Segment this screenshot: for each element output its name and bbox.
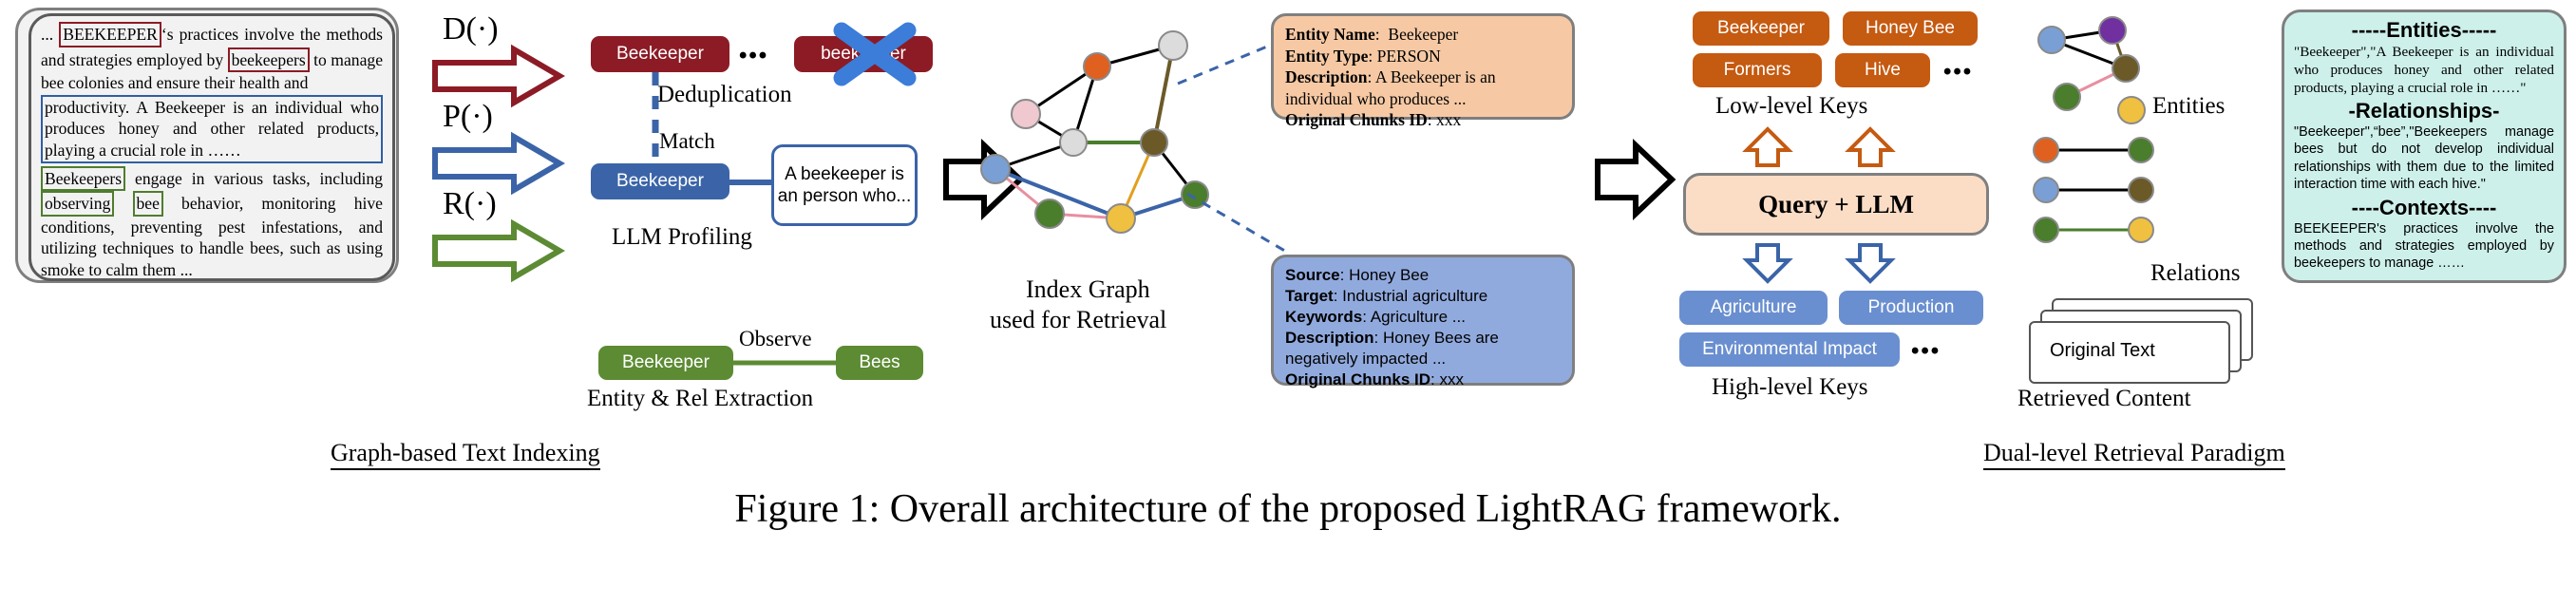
figure-root: ... BEEKEEPER‘s practices involve the me…	[0, 0, 2576, 606]
entity-info-card: Entity Name: Beekeeper Entity Type: PERS…	[1271, 13, 1575, 120]
retrieved-content-label: Retrieved Content	[2017, 386, 2191, 412]
entity-card-key-1: Entity Type	[1285, 47, 1368, 66]
relations-label: Relations	[2150, 260, 2240, 287]
profiling-connector	[728, 179, 775, 186]
raw-text-panel: ... BEEKEEPER‘s practices involve the me…	[28, 13, 395, 281]
profile-highlight-block: productivity. A Beekeeper is an individu…	[41, 95, 383, 163]
extraction-relation-label: Observe	[739, 327, 812, 351]
high-level-down-arrow-icon-2	[1847, 243, 1894, 283]
query-llm-box[interactable]: Query + LLM	[1683, 173, 1989, 236]
stage-label-indexing: Graph-based Text Indexing	[331, 439, 600, 470]
entity-card-key-3: Original Chunks ID	[1285, 110, 1428, 129]
original-text-label: Original Text	[2050, 340, 2155, 362]
extraction-function-label: R(·)	[443, 186, 497, 222]
low-level-key-0[interactable]: Beekeeper	[1693, 11, 1829, 46]
index-graph-caption-line1: Index Graph	[1026, 275, 1150, 304]
deduplication-caption: Deduplication	[657, 82, 792, 108]
high-level-keys-label: High-level Keys	[1712, 374, 1868, 401]
entity-card-leader	[1178, 38, 1282, 85]
low-level-keys-ellipsis: •••	[1943, 59, 1973, 85]
relation-highlight-observing: observing	[41, 191, 114, 217]
entities-label: Entities	[2152, 93, 2225, 120]
dedup-ellipsis: •••	[739, 43, 768, 69]
relation-card-leader	[1187, 190, 1292, 256]
relation-card-key-1: Target	[1285, 287, 1334, 305]
stage-label-retrieval: Dual-level Retrieval Paradigm	[1983, 439, 2285, 470]
entity-highlight-beekeeper-upper: BEEKEEPER	[59, 22, 161, 47]
profiling-function-label: P(·)	[443, 99, 493, 135]
relation-card-key-4: Original Chunks ID	[1285, 370, 1430, 388]
entities-section-body: "Beekeeper","A Beekeeper is an individua…	[2294, 43, 2554, 97]
high-level-key-0[interactable]: Agriculture	[1679, 291, 1828, 325]
text-rel-mid-1: engage in various tasks, including	[125, 169, 383, 188]
entity-card-value-0: Beekeeper	[1388, 25, 1458, 44]
entity-rel-extraction-caption: Entity & Rel Extraction	[587, 386, 813, 412]
relation-card-value-4: xxx	[1439, 370, 1464, 388]
relation-highlight-beekeepers: Beekeepers	[41, 166, 125, 192]
text-rel-mid-2	[114, 194, 132, 213]
x-cross-icon	[828, 21, 923, 87]
extraction-edge	[731, 359, 838, 367]
relation-card-value-2: Agriculture ...	[1371, 308, 1466, 326]
llm-profiling-caption: LLM Profiling	[612, 224, 752, 251]
high-level-down-arrow-icon	[1744, 243, 1791, 283]
match-label: Match	[659, 129, 715, 154]
low-level-up-arrow-icon-2	[1847, 127, 1894, 167]
high-level-key-2[interactable]: Environmental Impact	[1679, 332, 1900, 367]
low-level-key-3[interactable]: Hive	[1835, 53, 1930, 87]
low-level-key-2[interactable]: Formers	[1693, 53, 1822, 87]
graph-to-retrieval-arrow-icon	[1594, 141, 1676, 218]
dedup-function-label: D(·)	[443, 11, 499, 47]
dedup-arrow-icon	[432, 46, 565, 106]
low-level-up-arrow-icon	[1744, 127, 1791, 167]
entity-highlight-beekeepers: beekeepers	[228, 47, 310, 73]
profiling-arrow-icon	[432, 133, 565, 194]
relation-highlight-bee: bee	[133, 191, 163, 217]
entities-section-header: -----Entities-----	[2294, 18, 2554, 43]
dedup-node-a[interactable]: Beekeeper	[591, 36, 729, 72]
index-graph-caption-line2: used for Retrieval	[990, 306, 1166, 334]
contexts-section-header: ----Contexts----	[2294, 196, 2554, 220]
raw-text-paragraph-1: ... BEEKEEPER‘s practices involve the me…	[41, 22, 383, 281]
retrieved-context-panel: -----Entities----- "Beekeeper","A Beekee…	[2282, 9, 2567, 283]
entity-card-value-1: PERSON	[1377, 47, 1441, 66]
relation-card-value-1: Industrial agriculture	[1342, 287, 1487, 305]
profiling-node[interactable]: Beekeeper	[591, 163, 729, 199]
low-level-keys-label: Low-level Keys	[1715, 93, 1867, 120]
relation-card-value-0: Honey Bee	[1349, 266, 1429, 284]
entity-card-value-3: xxx	[1436, 110, 1461, 129]
figure-caption: Figure 1: Overall architecture of the pr…	[0, 486, 2576, 532]
relation-card-key-3: Description	[1285, 329, 1374, 347]
entity-card-key-2: Description	[1285, 67, 1368, 86]
high-level-keys-ellipsis: •••	[1911, 338, 1941, 365]
retrieved-relations-graph	[2021, 135, 2202, 249]
extraction-source-node[interactable]: Beekeeper	[598, 346, 733, 380]
extraction-target-node[interactable]: Bees	[836, 346, 923, 380]
relationships-section-header: -Relationships-	[2294, 99, 2554, 123]
relation-info-card: Source: Honey Bee Target: Industrial agr…	[1271, 255, 1575, 386]
entity-card-key-0: Entity Name	[1285, 25, 1375, 44]
high-level-key-1[interactable]: Production	[1839, 291, 1983, 325]
relationships-section-body: "Beekeeper",“bee”,"Beekeepers manage bee…	[2294, 123, 2554, 194]
relation-card-key-2: Keywords	[1285, 308, 1362, 326]
relation-card-key-0: Source	[1285, 266, 1340, 284]
profiling-description-box: A beekeeper is an person who...	[771, 144, 918, 226]
low-level-key-1[interactable]: Honey Bee	[1843, 11, 1978, 46]
text-lead: ...	[41, 25, 59, 44]
contexts-section-body: BEEKEEPER's practices involve the method…	[2294, 220, 2554, 273]
extraction-arrow-icon	[432, 220, 565, 281]
